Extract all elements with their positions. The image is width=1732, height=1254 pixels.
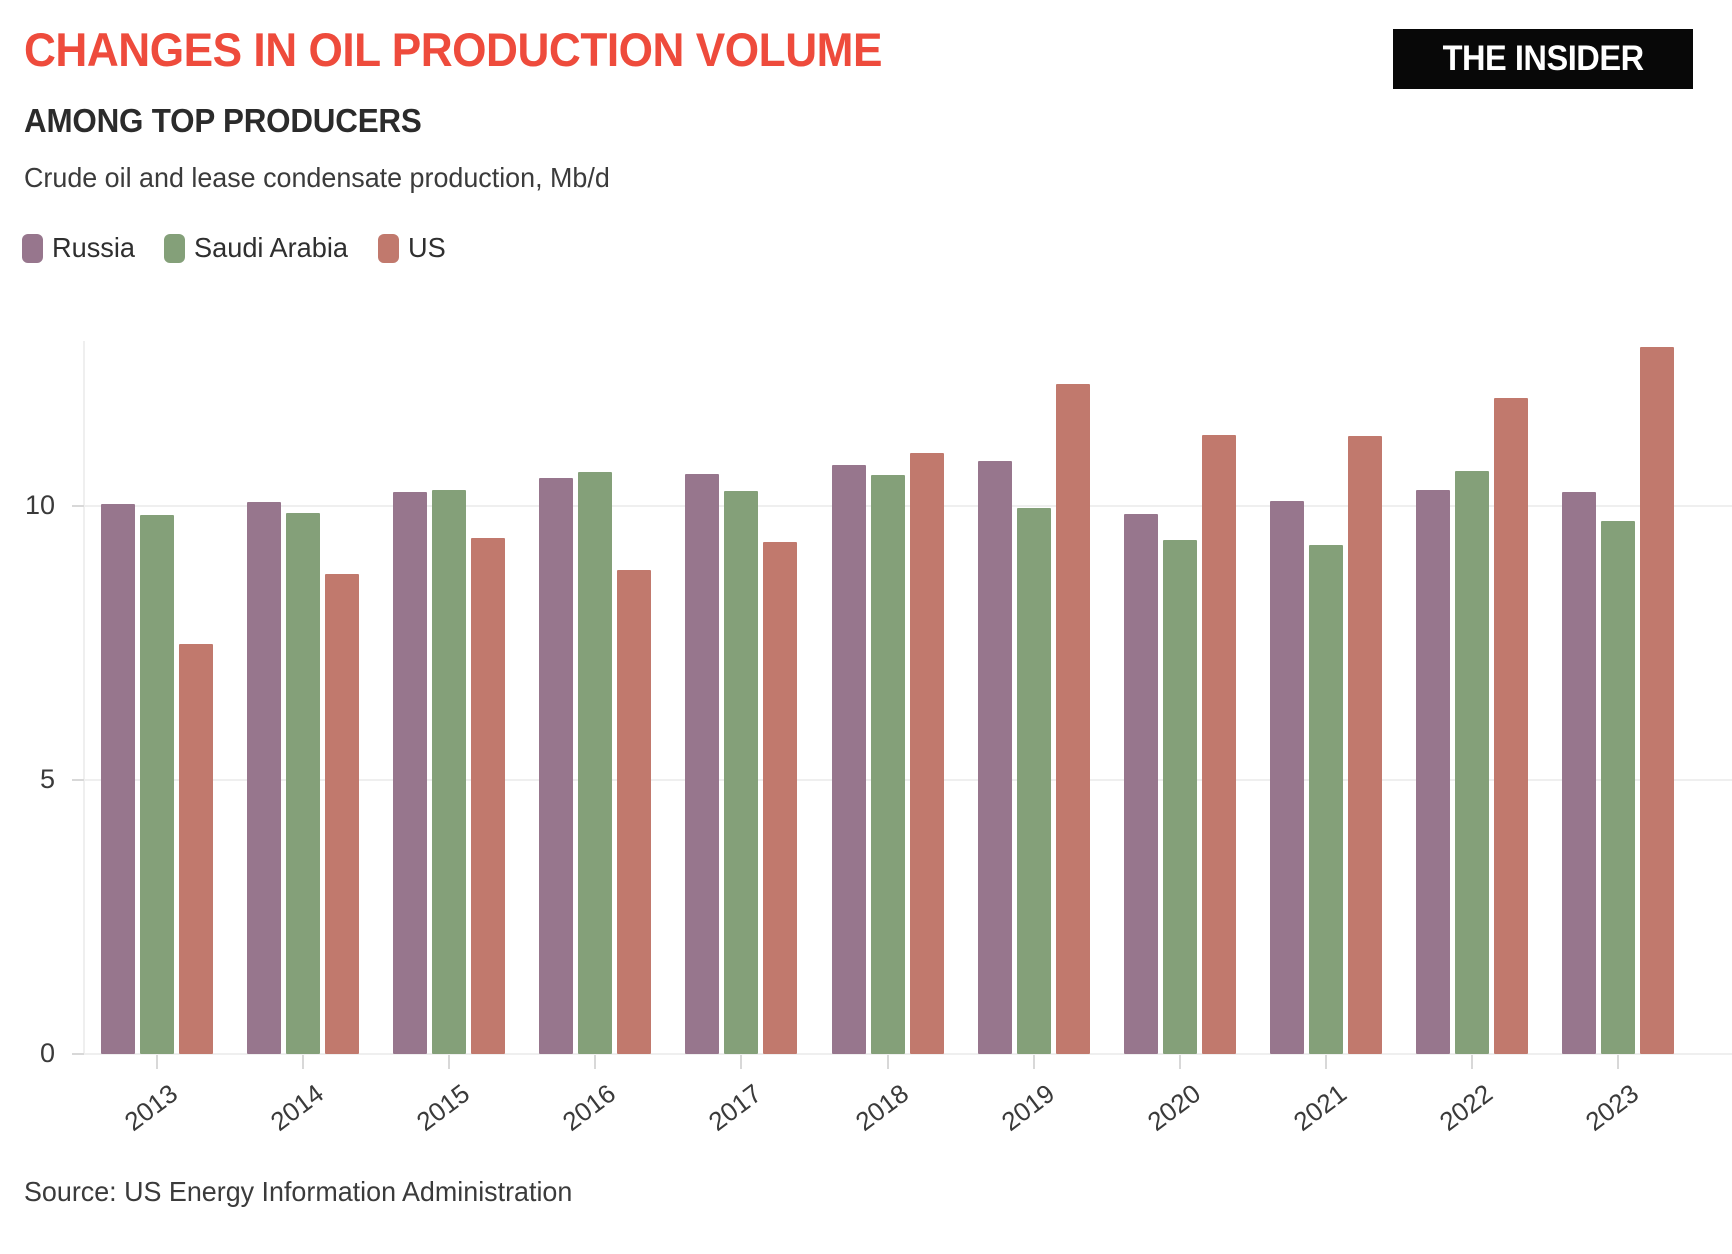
bar-2021-russia[interactable]: [1270, 501, 1304, 1054]
bar-2023-us[interactable]: [1640, 347, 1674, 1054]
x-tick-label-2018: 2018: [836, 1078, 914, 1147]
y-tick-mark: [72, 1053, 84, 1055]
x-tick-mark: [1179, 1055, 1181, 1069]
x-tick-mark: [302, 1055, 304, 1069]
bar-2016-saudi-arabia[interactable]: [578, 472, 612, 1054]
bar-2014-russia[interactable]: [247, 502, 281, 1054]
y-tick-label: 5: [40, 766, 55, 793]
bar-2023-saudi-arabia[interactable]: [1601, 521, 1635, 1054]
bar-2019-us[interactable]: [1056, 384, 1090, 1054]
bar-2020-us[interactable]: [1202, 435, 1236, 1054]
x-tick-mark: [156, 1055, 158, 1069]
x-tick-mark: [1325, 1055, 1327, 1069]
bar-2014-us[interactable]: [325, 574, 359, 1054]
bar-2016-russia[interactable]: [539, 478, 573, 1054]
bar-2021-saudi-arabia[interactable]: [1309, 545, 1343, 1054]
x-tick-mark: [740, 1055, 742, 1069]
bar-2019-saudi-arabia[interactable]: [1017, 508, 1051, 1054]
bar-2018-russia[interactable]: [832, 465, 866, 1054]
bar-2021-us[interactable]: [1348, 436, 1382, 1054]
x-tick-label-2014: 2014: [252, 1078, 330, 1147]
y-tick-label: 10: [25, 492, 55, 519]
x-tick-mark: [448, 1055, 450, 1069]
bar-2015-saudi-arabia[interactable]: [432, 490, 466, 1054]
x-tick-label-2013: 2013: [106, 1078, 184, 1147]
bar-2015-us[interactable]: [471, 538, 505, 1054]
x-tick-label-2023: 2023: [1567, 1078, 1645, 1147]
y-axis-spine: [83, 341, 85, 1055]
x-tick-mark: [594, 1055, 596, 1069]
bar-2022-russia[interactable]: [1416, 490, 1450, 1054]
bar-2013-russia[interactable]: [101, 504, 135, 1054]
x-tick-label-2021: 2021: [1275, 1078, 1353, 1147]
bar-2017-saudi-arabia[interactable]: [724, 491, 758, 1054]
x-tick-mark: [887, 1055, 889, 1069]
bar-2020-russia[interactable]: [1124, 514, 1158, 1054]
bar-2017-russia[interactable]: [685, 474, 719, 1054]
plot-area: 0510 20132014201520162017201820192020202…: [0, 0, 1732, 1254]
bar-2020-saudi-arabia[interactable]: [1163, 540, 1197, 1054]
bar-2017-us[interactable]: [763, 542, 797, 1054]
bar-2019-russia[interactable]: [978, 461, 1012, 1054]
y-tick-mark: [72, 779, 84, 781]
x-tick-label-2020: 2020: [1129, 1078, 1207, 1147]
x-tick-label-2022: 2022: [1421, 1078, 1499, 1147]
bar-2015-russia[interactable]: [393, 492, 427, 1054]
bar-2016-us[interactable]: [617, 570, 651, 1054]
chart-page: CHANGES IN OIL PRODUCTION VOLUME AMONG T…: [0, 0, 1732, 1254]
bar-2022-us[interactable]: [1494, 398, 1528, 1054]
bar-2022-saudi-arabia[interactable]: [1455, 471, 1489, 1054]
bar-2023-russia[interactable]: [1562, 492, 1596, 1054]
bar-2018-us[interactable]: [910, 453, 944, 1054]
y-tick-label: 0: [40, 1040, 55, 1067]
y-tick-mark: [72, 505, 84, 507]
source-note: Source: US Energy Information Administra…: [24, 1176, 572, 1208]
x-tick-mark: [1471, 1055, 1473, 1069]
x-tick-mark: [1617, 1055, 1619, 1069]
x-tick-label-2019: 2019: [982, 1078, 1060, 1147]
bar-2018-saudi-arabia[interactable]: [871, 475, 905, 1054]
x-tick-label-2015: 2015: [398, 1078, 476, 1147]
x-tick-mark: [1033, 1055, 1035, 1069]
bar-2013-saudi-arabia[interactable]: [140, 515, 174, 1054]
x-tick-label-2017: 2017: [690, 1078, 768, 1147]
bar-2013-us[interactable]: [179, 644, 213, 1054]
x-tick-label-2016: 2016: [544, 1078, 622, 1147]
bar-2014-saudi-arabia[interactable]: [286, 513, 320, 1054]
